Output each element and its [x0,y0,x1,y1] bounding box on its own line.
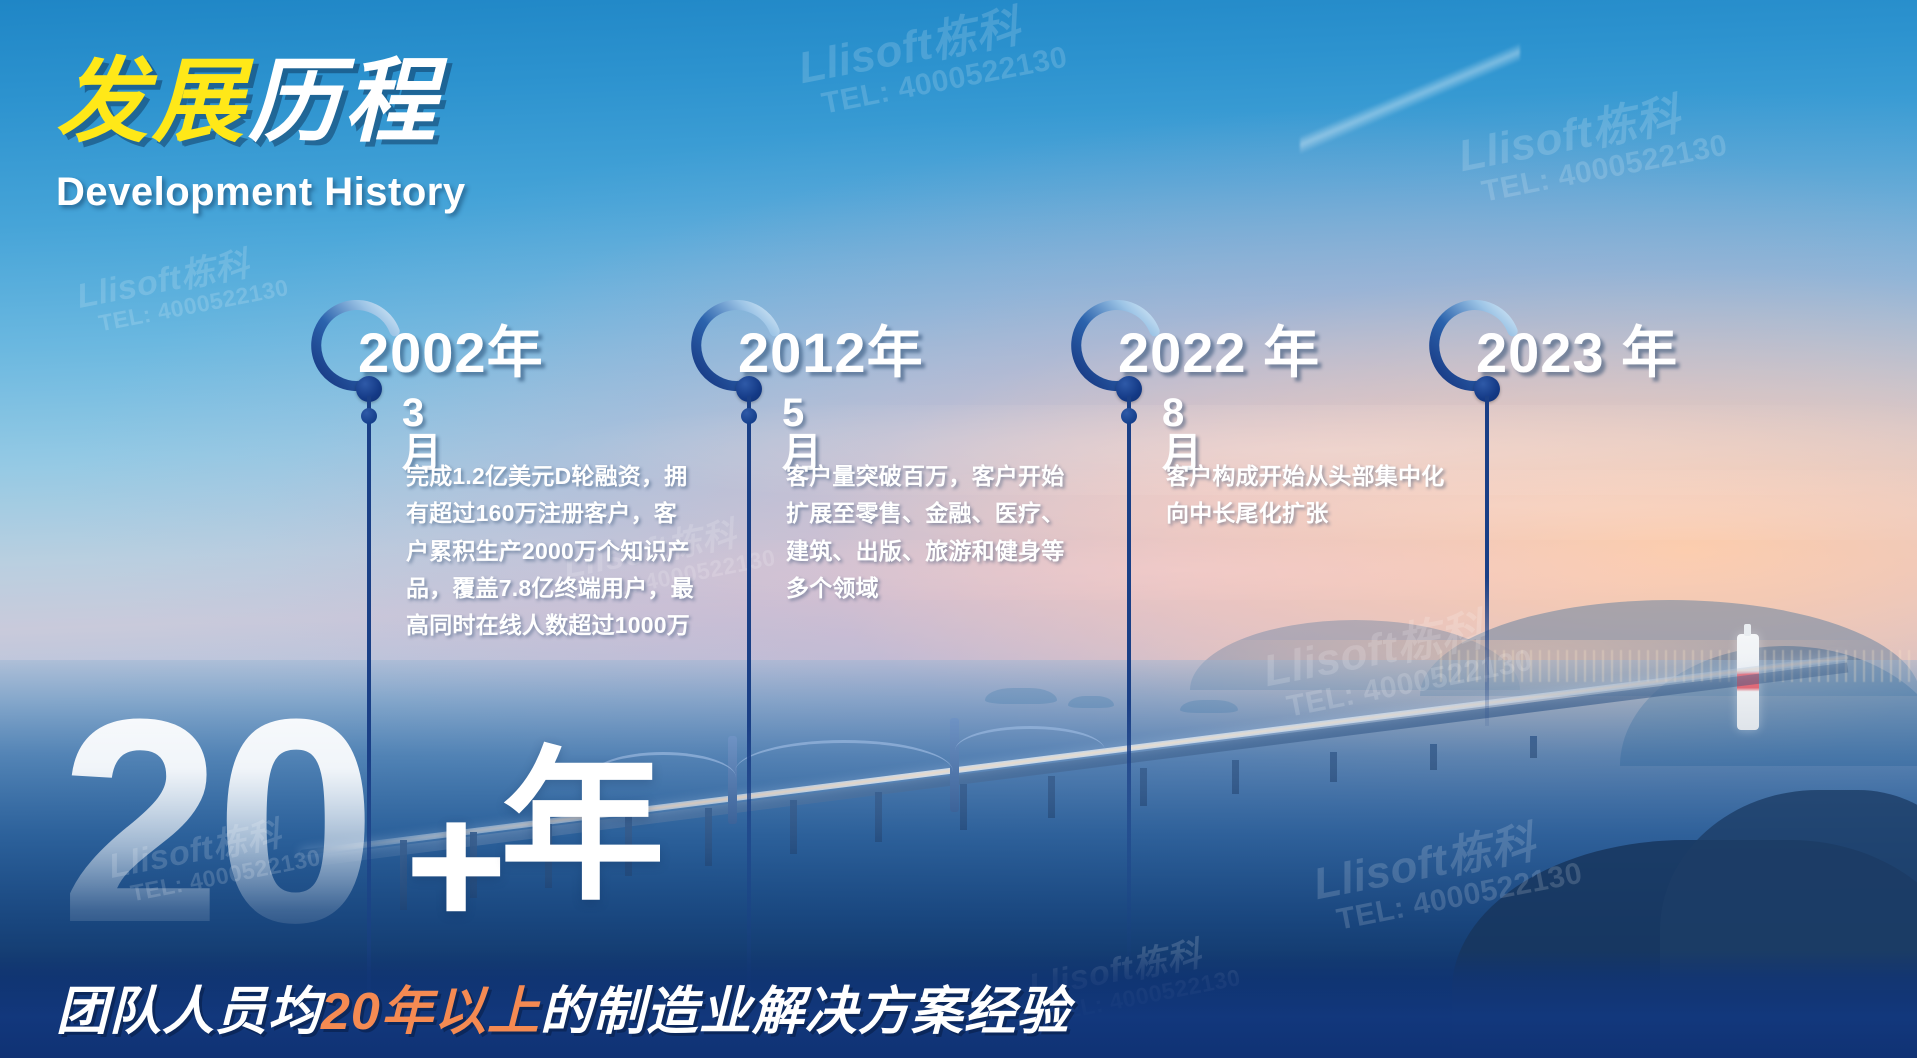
bridge-pier [1140,768,1147,806]
bridge-pier [1430,744,1437,770]
timeline-description: 客户量突破百万，客户开始扩展至零售、金融、医疗、建筑、出版、旅游和健身等多个领域 [786,458,1076,607]
timeline-year-label: 2002年 [358,308,544,389]
bridge-pier [1232,760,1239,794]
bridge-side-cable [955,726,1105,775]
bridge-pier [1530,736,1537,758]
slogan-part-3: 的制造业解决方案经验 [540,983,1070,1041]
bridge-pier [1330,752,1337,782]
bridge-pier [1048,776,1055,818]
timeline-stem-line [1485,396,1489,726]
page-title: 发展历程 [56,56,466,148]
timeline-year-label: 2012年 [738,308,924,389]
slogan-part-highlight: 20年以上 [321,983,540,1041]
timeline-year-label: 2023 年 [1476,308,1678,389]
bridge-pier [705,808,712,866]
bridge-pier [790,800,797,854]
timeline-description: 完成1.2亿美元D轮融资，拥有超过160万注册客户，客户累积生产2000万个知识… [406,458,696,644]
slogan-part-1: 团队人员均 [56,983,321,1041]
page-title-part-yellow: 发展 [56,51,248,153]
timeline-month-dot [741,408,757,424]
timeline-month-dot [361,408,377,424]
years-count-plus: + [405,778,507,953]
page-header: 发展历程 Development History [56,56,466,215]
page-subtitle: Development History [56,170,466,215]
bridge-pier [960,784,967,830]
timeline-stem-line [747,396,751,996]
page-title-part-white: 历程 [248,51,440,153]
years-count-unit: 年 [500,745,665,910]
timeline-stem-line [1127,396,1131,956]
bridge-pylon [950,718,959,812]
timeline-description: 客户构成开始从头部集中化向中长尾化扩张 [1166,458,1456,533]
bridge-main-cable [735,740,953,803]
timeline-year-label: 2022 年 [1118,308,1320,389]
airplane-contrail [1300,10,1520,190]
timeline-month-dot [1121,408,1137,424]
banner-canvas: Llisoft栋科 TEL: 4000522130 Llisoft栋科 TEL:… [0,0,1917,1058]
slogan-text: 团队人员均20年以上的制造业解决方案经验 [56,969,1070,1044]
